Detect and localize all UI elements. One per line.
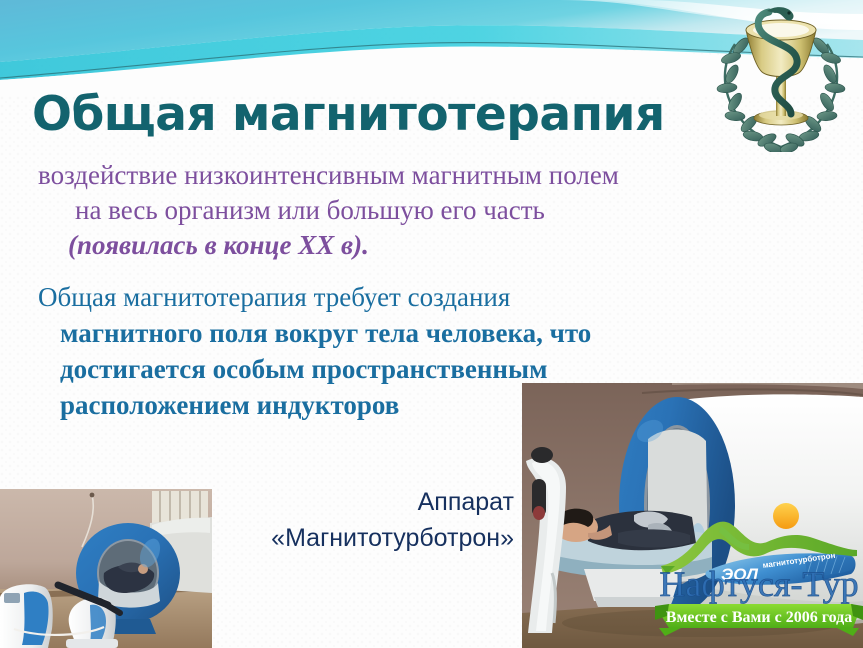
pharmacy-emblem-icon [705, 2, 857, 152]
paragraph-1-line-2: на весь организм или большую его часть [75, 193, 750, 228]
slide: Общая магнитотерапия воздействие низкоин… [0, 0, 863, 648]
page-title: Общая магнитотерапия [32, 88, 712, 142]
paragraph-2-line-2: магнитного поля вокруг тела человека, чт… [60, 315, 750, 351]
magnitoturbotron-patient-photo [522, 383, 863, 648]
paragraph-2-line-1: Общая магнитотерапия требует создания [38, 279, 750, 315]
paragraph-1-line-1: воздействие низкоинтенсивным магнитным п… [38, 158, 750, 193]
paragraph-2-line-3: достигается особым пространственным [60, 351, 750, 387]
magnetotherapy-room-photo [0, 489, 212, 648]
paragraph-1-line-3: (появилась в конце XX в). [68, 228, 750, 263]
device-caption: Аппарат «Магнитотурботрон» [218, 484, 514, 556]
caption-line-1: Аппарат [218, 484, 514, 520]
paragraph-definition: воздействие низкоинтенсивным магнитным п… [30, 158, 750, 263]
caption-line-2: «Магнитотурботрон» [218, 520, 514, 556]
